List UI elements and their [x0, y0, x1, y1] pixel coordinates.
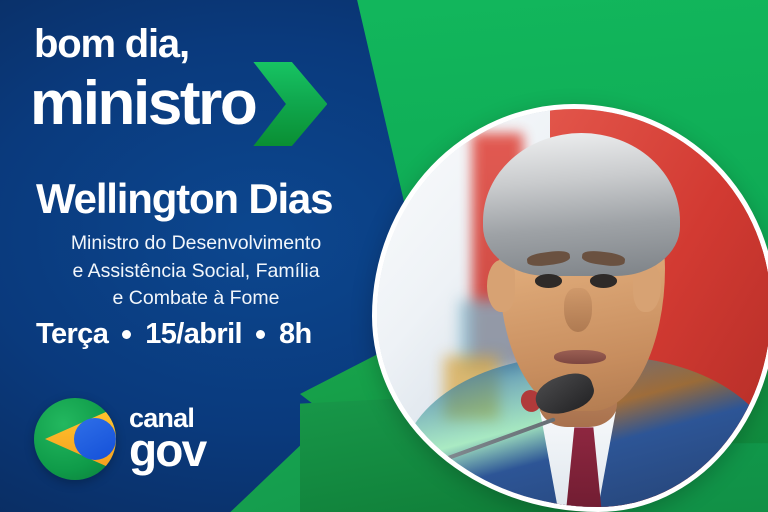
guest-role-line-1: Ministro do Desenvolvimento: [0, 230, 392, 258]
bullet-dot-icon: [122, 330, 131, 339]
guest-role-line-2: e Assistência Social, Família: [0, 258, 392, 286]
schedule-date: 15/abril: [145, 318, 242, 351]
guest-portrait: [372, 104, 768, 512]
subject-nose: [564, 288, 592, 332]
portrait-bubble-frame: [372, 104, 768, 512]
subject-eye-left: [535, 274, 563, 288]
program-title: ministro: [30, 73, 255, 135]
logo-word-gov: gov: [129, 431, 205, 471]
subject-mouth: [554, 350, 605, 364]
brazil-flag-circle-icon: [34, 398, 116, 480]
bullet-dot-icon: [256, 330, 265, 339]
guest-role-line-3: e Combate à Fome: [0, 285, 392, 313]
schedule-weekday: Terça: [36, 318, 108, 351]
chevron-right-icon: [253, 62, 327, 146]
canal-gov-logo: canal gov: [34, 398, 205, 480]
portrait-subject: [377, 109, 768, 507]
subject-eye-right: [590, 274, 618, 288]
program-kicker: bom dia,: [34, 24, 189, 64]
guest-role: Ministro do Desenvolvimento e Assistênci…: [0, 230, 392, 313]
schedule-time: 8h: [279, 318, 312, 351]
logo-wordmark: canal gov: [129, 407, 205, 471]
schedule-line: Terça 15/abril 8h: [36, 318, 312, 351]
program-title-row: ministro: [30, 62, 327, 146]
subject-ear-left: [487, 260, 515, 312]
logo-blue-circle: [74, 418, 116, 460]
broadcast-announcement-card: bom dia, ministro Wellington Dias Minist…: [0, 0, 768, 512]
guest-name: Wellington Dias: [36, 178, 332, 220]
